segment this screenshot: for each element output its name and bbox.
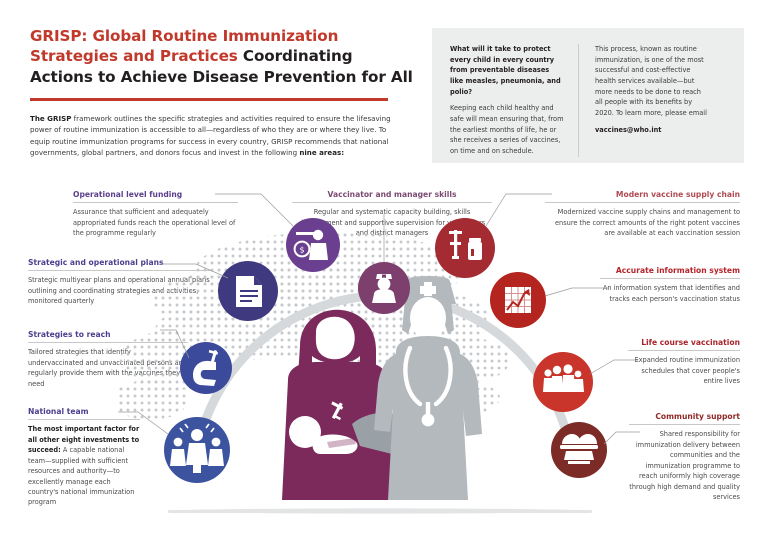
node-national-team[interactable] [164, 417, 230, 483]
intro-paragraph: The GRISP framework outlines the specifi… [30, 113, 406, 159]
chart-icon [505, 287, 531, 313]
callout-right-column: This process, known as routine immunizat… [578, 44, 710, 157]
funding-icon: $ [295, 230, 328, 260]
central-graphic: $ [0, 170, 768, 543]
title-line-2-rest: Coordinating [238, 47, 353, 65]
page-title: GRISP: Global Routine Immunization Strat… [30, 26, 420, 87]
node-accurate-information-system[interactable] [490, 272, 546, 328]
community-icon [560, 434, 598, 464]
node-strategic-and-operational-plans[interactable] [218, 261, 278, 321]
page-header: GRISP: Global Routine Immunization Strat… [30, 26, 420, 159]
node-life-course-vaccination[interactable] [533, 352, 593, 412]
callout-answer: Keeping each child healthy and safe will… [450, 104, 564, 155]
callout-box: What will it take to protect every child… [432, 28, 744, 163]
ground-shadow [168, 508, 592, 513]
callout-left-column: What will it take to protect every child… [450, 44, 578, 157]
node-vaccinator-and-manager-skills[interactable] [358, 262, 410, 314]
intro-lead: The GRISP [30, 114, 71, 123]
title-line-1: GRISP: Global Routine Immunization [30, 26, 420, 46]
title-line-2-highlight: Strategies and Practices [30, 47, 238, 65]
document-icon [236, 276, 262, 307]
callout-question: What will it take to protect every child… [450, 44, 564, 97]
node-modern-vaccine-supply-chain[interactable] [435, 218, 495, 278]
intro-bold-tail: nine areas: [299, 148, 344, 157]
infographic-page: GRISP: Global Routine Immunization Strat… [0, 0, 768, 543]
svg-text:$: $ [299, 246, 304, 255]
node-community-support[interactable] [551, 422, 607, 478]
node-strategies-to-reach[interactable] [180, 342, 232, 394]
callout-email[interactable]: vaccines@who.int [595, 125, 710, 136]
node-operational-level-funding[interactable]: $ [286, 218, 340, 272]
callout-right-text: This process, known as routine immunizat… [595, 45, 707, 117]
title-line-3: Actions to Achieve Disease Prevention fo… [30, 67, 420, 87]
title-rule [30, 98, 388, 101]
